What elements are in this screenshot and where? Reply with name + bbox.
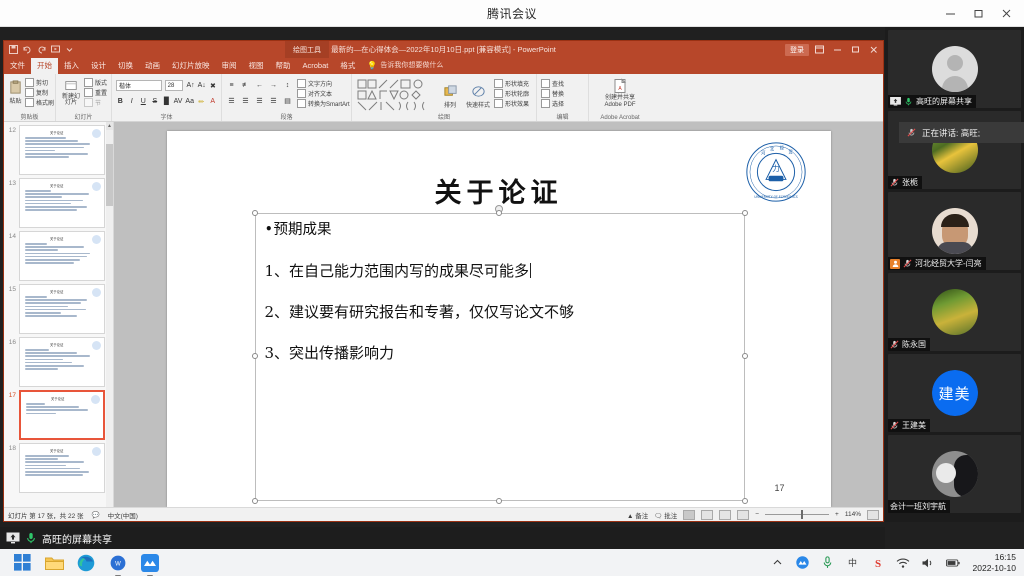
- avatar-head: [947, 55, 963, 71]
- mic-muted-icon: [890, 340, 899, 349]
- cat-photo-avatar: [932, 451, 978, 497]
- avatar-dark-region: [954, 455, 978, 497]
- section-button[interactable]: 节: [84, 98, 107, 107]
- quick-access-toolbar: [4, 45, 74, 54]
- thumbnail-lines: [26, 403, 98, 416]
- resize-handle-bottom-center[interactable]: [496, 498, 502, 504]
- clock-time: 16:15: [973, 552, 1016, 563]
- select-button[interactable]: 选择: [541, 99, 584, 108]
- sogou-input-icon[interactable]: S: [871, 556, 885, 570]
- thumbnail-number: 13: [6, 178, 16, 187]
- body-line-2: 1、在自己能力范围内写的成果尽可能多: [265, 263, 735, 279]
- view-slide-sorter-button[interactable]: [701, 510, 713, 520]
- powerpoint-title-bar: 最新的—在心得体会—2022年10月10日.ppt [兼容模式] - Power…: [4, 41, 883, 58]
- landscape-photo-avatar: [932, 289, 978, 335]
- ribbon-group-clipboard: 粘贴 剪切 复制 格式刷 剪贴板: [4, 74, 56, 121]
- thumbnail-number: 15: [6, 284, 16, 293]
- zoom-in-button[interactable]: +: [835, 511, 839, 518]
- editing-group-label: 编辑: [537, 112, 588, 121]
- thumbnail-preview: 关于论证: [19, 125, 105, 175]
- thumbnail-lines: [25, 243, 99, 265]
- participant-name: 会计一班刘宇航: [890, 501, 946, 512]
- text-direction-label: 文字方向: [308, 79, 332, 88]
- avatar-hair: [941, 214, 969, 227]
- find-button[interactable]: 查找: [541, 79, 584, 88]
- resize-handle-middle-right[interactable]: [742, 353, 748, 359]
- layout-button[interactable]: 版式: [84, 78, 107, 87]
- shape-outline-icon: [494, 89, 503, 98]
- start-slideshow-icon[interactable]: [51, 45, 60, 54]
- paste-icon: [8, 80, 23, 95]
- font-color-button[interactable]: A: [208, 96, 217, 107]
- wps-office-icon[interactable]: W: [108, 553, 128, 573]
- spellcheck-icon[interactable]: 💬: [92, 511, 100, 519]
- slide-count-label: 幻灯片 第 17 张，共 22 张: [8, 510, 84, 520]
- font-group-label: 字体: [112, 112, 221, 121]
- scroll-up-arrow-icon[interactable]: ▲: [106, 122, 113, 130]
- participant-name: 陈永国: [902, 339, 926, 350]
- thumbnail-preview: 关于论证: [19, 390, 105, 440]
- ribbon-display-options-icon[interactable]: [812, 41, 827, 58]
- comments-button[interactable]: 🗨 批注: [654, 510, 677, 520]
- strikethrough-button[interactable]: S: [151, 96, 160, 107]
- thumbnail-title: 关于论证: [50, 289, 64, 294]
- create-share-adobe-pdf-button[interactable]: A 创建并共享 Adobe PDF: [593, 76, 647, 108]
- shape-fill-button[interactable]: 形状填充: [494, 79, 529, 88]
- slide-thumbnail-12[interactable]: 12 关于论证: [4, 122, 113, 175]
- ribbon-tab-file[interactable]: 文件: [4, 58, 31, 74]
- thumbnail-preview: 关于论证: [19, 337, 105, 387]
- participant-name-bar: 张栀: [888, 176, 922, 189]
- quick-styles-button[interactable]: 快速样式: [466, 78, 490, 115]
- decrease-font-size-icon[interactable]: A↓: [198, 80, 206, 91]
- mic-muted-icon: [890, 421, 899, 430]
- replace-label: 替换: [552, 89, 564, 98]
- format-painter-label: 格式刷: [36, 98, 54, 107]
- shape-effects-icon: [494, 99, 503, 108]
- fit-slide-to-window-button[interactable]: [867, 510, 879, 520]
- numbering-button[interactable]: ≢: [240, 80, 251, 91]
- format-painter-button[interactable]: 格式刷: [25, 98, 54, 107]
- tencent-meeting-icon[interactable]: [140, 553, 160, 573]
- notes-button-label: 备注: [635, 513, 648, 520]
- participant-name-bar: 高旺的屏幕共享: [888, 95, 976, 108]
- view-reading-button[interactable]: [719, 510, 731, 520]
- ribbon-group-slides: 新建幻灯片 版式 重置 节 幻灯片: [56, 74, 112, 121]
- slide-thumbnail-17[interactable]: 17 关于论证: [4, 387, 113, 440]
- participant-tile-3[interactable]: 陈永国: [888, 273, 1021, 351]
- mic-muted-icon: [890, 178, 899, 187]
- thumbnail-lines: [25, 349, 99, 371]
- ribbon-group-acrobat: A 创建并共享 Adobe PDF Adobe Acrobat: [589, 74, 651, 121]
- thumbnail-title: 关于论证: [50, 130, 64, 135]
- contextual-tab-label: 绘图工具: [285, 41, 329, 58]
- clock-date: 2022-10-10: [973, 563, 1016, 574]
- ribbon-tab-insert[interactable]: 插入: [58, 58, 85, 74]
- body-line-1: •预期成果: [265, 223, 735, 238]
- participant-name-bar: 王建美: [888, 419, 930, 432]
- bullet-icon: •: [265, 223, 274, 238]
- microphone-icon: [25, 532, 37, 544]
- svg-text:河: 河: [761, 149, 766, 156]
- section-label: 节: [95, 98, 101, 107]
- shape-effects-button[interactable]: 形状效果: [494, 99, 529, 108]
- microsoft-edge-icon[interactable]: [76, 553, 96, 573]
- cut-button[interactable]: 剪切: [25, 78, 54, 87]
- align-center-button[interactable]: ☰: [240, 95, 251, 106]
- participant-tile-2[interactable]: 河北经贸大学-闫亮: [888, 192, 1021, 270]
- shape-effects-label: 形状效果: [505, 99, 529, 108]
- participant-tile-4[interactable]: 建美 王建美: [888, 354, 1021, 432]
- align-text-button[interactable]: 对齐文本: [297, 89, 350, 98]
- ribbon-tab-design[interactable]: 设计: [85, 58, 112, 74]
- slide-thumbnail-15[interactable]: 15 关于论证: [4, 281, 113, 334]
- reset-label: 重置: [95, 88, 107, 97]
- layout-label: 版式: [95, 78, 107, 87]
- shape-outline-label: 形状轮廓: [505, 89, 529, 98]
- ribbon-tab-help[interactable]: 帮助: [270, 58, 297, 74]
- meeting-window-controls: [936, 0, 1020, 27]
- system-tray: 中 S 16:15 2022-10-10: [771, 552, 1024, 574]
- show-hidden-icons-chevron[interactable]: [771, 556, 785, 570]
- notes-button[interactable]: ▲ 备注: [627, 510, 648, 520]
- slide-thumbnail-14[interactable]: 14 关于论证: [4, 228, 113, 281]
- svg-text:中: 中: [848, 557, 857, 569]
- arrange-button[interactable]: 排列: [438, 78, 462, 115]
- thumbnail-number: 14: [6, 231, 16, 240]
- font-size-combobox[interactable]: 28: [165, 80, 184, 91]
- ribbon-group-editing: 查找 替换 选择 编辑: [537, 74, 589, 121]
- thumbnail-preview: 关于论证: [19, 231, 105, 281]
- participant-name: 张栀: [902, 177, 918, 188]
- reset-button[interactable]: 重置: [84, 88, 107, 97]
- resize-handle-middle-left[interactable]: [252, 353, 258, 359]
- resize-handle-top-center[interactable]: [496, 210, 502, 216]
- italic-button[interactable]: I: [128, 96, 137, 107]
- participant-tile-5[interactable]: 会计一班刘宇航: [888, 435, 1021, 513]
- ribbon-tab-slideshow[interactable]: 幻灯片放映: [166, 58, 216, 74]
- ime-chinese-icon[interactable]: 中: [846, 556, 860, 570]
- meeting-window-title: 腾讯会议: [487, 5, 537, 22]
- screen-share-icon: [890, 97, 901, 106]
- tell-me-search-box[interactable]: 💡 告诉我你想要做什么: [361, 58, 449, 74]
- powerpoint-document-title: 最新的—在心得体会—2022年10月10日.ppt [兼容模式] - Power…: [4, 44, 883, 55]
- text-caret: [530, 263, 531, 278]
- body-line-4: 3、突出传播影响力: [265, 346, 735, 361]
- underline-button[interactable]: U: [139, 96, 148, 107]
- columns-button[interactable]: ▤: [282, 95, 293, 106]
- screen-share-owner-label: 高旺的屏幕共享: [42, 531, 112, 546]
- close-icon[interactable]: [992, 0, 1020, 27]
- paste-label: 粘贴: [9, 96, 21, 105]
- powerpoint-status-bar: 幻灯片 第 17 张，共 22 张 💬 中文(中国) ▲ 备注 🗨 批注 − +…: [4, 507, 883, 521]
- shapes-gallery-icon: [356, 78, 434, 112]
- slide-page-number: 17: [774, 483, 784, 493]
- increase-font-size-icon[interactable]: A↑: [186, 80, 194, 91]
- thumbnail-title: 关于论证: [50, 236, 64, 241]
- redo-icon[interactable]: [37, 45, 46, 54]
- thumbnail-scrollbar[interactable]: ▲ ▼: [106, 122, 113, 515]
- ribbon-tab-animations[interactable]: 动画: [139, 58, 166, 74]
- zoom-out-button[interactable]: −: [755, 511, 759, 518]
- taskbar-app-icons: W: [0, 553, 160, 573]
- powerpoint-close-icon[interactable]: [866, 41, 881, 58]
- thumbnail-title: 关于论证: [50, 448, 64, 453]
- svg-text:S: S: [874, 558, 880, 569]
- new-slide-label: 新建幻灯片: [60, 94, 82, 107]
- avatar-shirt: [937, 242, 973, 254]
- thumbnail-title: 关于论证: [50, 183, 64, 188]
- text-direction-icon: [297, 79, 306, 88]
- host-badge-icon: [890, 259, 900, 269]
- new-slide-icon: [64, 79, 78, 93]
- microphone-tray-icon[interactable]: [821, 556, 835, 570]
- editing-area: 12 关于论证 13 关于论证: [4, 122, 883, 522]
- zoom-level-label[interactable]: 114%: [845, 511, 861, 518]
- slide-thumbnail-16[interactable]: 16 关于论证: [4, 334, 113, 387]
- ribbon-tab-transitions[interactable]: 切换: [112, 58, 139, 74]
- participant-name: 王建美: [902, 420, 926, 431]
- reset-icon: [84, 88, 93, 97]
- powerpoint-minimize-icon[interactable]: [830, 41, 845, 58]
- body-line-4-text: 3、突出传播影响力: [265, 344, 395, 362]
- meeting-title-bar: 腾讯会议: [0, 0, 1024, 27]
- find-label: 查找: [552, 79, 564, 88]
- resize-handle-top-left[interactable]: [252, 210, 258, 216]
- slide-thumbnail-pane[interactable]: 12 关于论证 13 关于论证: [4, 122, 114, 515]
- character-spacing-button[interactable]: AV: [174, 96, 183, 107]
- text-highlight-color-button[interactable]: ✏: [197, 96, 206, 107]
- slide-title[interactable]: 关于论证: [167, 171, 831, 210]
- shape-fill-label: 形状填充: [505, 79, 529, 88]
- clear-formatting-icon[interactable]: ✖: [209, 80, 217, 91]
- arrange-label: 排列: [444, 100, 456, 109]
- resize-handle-bottom-left[interactable]: [252, 498, 258, 504]
- font-name-value: 楷体: [119, 81, 131, 90]
- paragraph-group-label: 段落: [222, 112, 351, 121]
- current-slide[interactable]: 力 河 北 经 贸 UNIVERSITY OF ECONOMICS 关于论证: [167, 131, 831, 507]
- replace-icon: [541, 89, 550, 98]
- initials-avatar: 建美: [932, 370, 978, 416]
- lightbulb-icon: 💡: [367, 58, 377, 74]
- svg-text:W: W: [115, 561, 121, 567]
- smartart-icon: [297, 99, 306, 108]
- layout-icon: [84, 78, 93, 87]
- wifi-icon[interactable]: [896, 556, 910, 570]
- view-slideshow-button[interactable]: [737, 510, 749, 520]
- font-size-value: 28: [168, 83, 175, 89]
- body-line-2-text: 1、在自己能力范围内写的成果尽可能多: [265, 262, 530, 280]
- cut-label: 剪切: [36, 78, 48, 87]
- zoom-slider[interactable]: [765, 514, 829, 515]
- thumbnail-lines: [25, 190, 99, 212]
- copy-button[interactable]: 复制: [25, 88, 54, 97]
- copy-icon: [25, 88, 34, 97]
- thumbnail-number: 16: [6, 337, 16, 346]
- section-icon: [84, 98, 93, 107]
- text-shadow-button[interactable]: █: [162, 96, 171, 107]
- decrease-indent-button[interactable]: ←: [254, 80, 265, 91]
- ribbon-group-drawing: 排列 快速样式 形状填充 形状轮廓 形状效果 绘图: [352, 74, 537, 121]
- thumbnail-preview: 关于论证: [19, 178, 105, 228]
- battery-icon[interactable]: [946, 556, 960, 570]
- ribbon-tab-acrobat[interactable]: Acrobat: [297, 58, 335, 74]
- font-name-combobox[interactable]: 楷体: [116, 80, 162, 91]
- adobe-pdf-icon: A: [612, 78, 628, 94]
- thumbnail-number: 18: [6, 443, 16, 452]
- monitor-icon: [6, 532, 20, 544]
- arrange-icon: [443, 84, 458, 99]
- select-label: 选择: [552, 99, 564, 108]
- ribbon: 粘贴 剪切 复制 格式刷 剪贴板 新建幻灯片: [4, 74, 883, 122]
- shape-fill-icon: [494, 79, 503, 88]
- create-share-adobe-pdf-label: 创建并共享 Adobe PDF: [604, 95, 635, 108]
- shapes-gallery[interactable]: [356, 78, 434, 115]
- maximize-icon[interactable]: [964, 0, 992, 27]
- speaking-toast-text: 正在讲话: 高旺;: [922, 127, 980, 139]
- body-line-3: 2、建议要有研究报告和专著，仅仅写论文不够: [265, 305, 735, 320]
- shape-outline-button[interactable]: 形状轮廓: [494, 89, 529, 98]
- view-normal-button[interactable]: [683, 510, 695, 520]
- participant-name-bar: 会计一班刘宇航: [888, 500, 950, 513]
- quick-styles-label: 快速样式: [466, 100, 490, 109]
- thumbnail-lines: [25, 455, 99, 477]
- thumbnail-preview: 关于论证: [19, 443, 105, 493]
- thumbnail-title: 关于论证: [51, 396, 65, 401]
- change-case-button[interactable]: Aa: [185, 96, 194, 107]
- thumbnail-title: 关于论证: [50, 342, 64, 347]
- thumbnail-number: 17: [6, 390, 16, 399]
- windows-taskbar: W 中: [0, 549, 1024, 576]
- body-line-1-text: 预期成果: [274, 222, 332, 238]
- powerpoint-title-right: 登录: [785, 41, 881, 58]
- align-text-label: 对齐文本: [308, 89, 332, 98]
- paste-button[interactable]: 粘贴: [8, 76, 23, 107]
- language-label[interactable]: 中文(中国): [108, 510, 138, 520]
- align-text-icon: [297, 89, 306, 98]
- format-painter-icon: [25, 98, 34, 107]
- save-icon[interactable]: [9, 45, 18, 54]
- ribbon-tab-format[interactable]: 格式: [334, 58, 361, 74]
- screen-share-indicator-bar: 高旺的屏幕共享: [0, 527, 885, 549]
- ribbon-group-font: 楷体 28 A↑ A↓ ✖ B I U S █ AV Aa ✏ A 字: [112, 74, 222, 121]
- start-button-icon[interactable]: [12, 553, 32, 573]
- text-direction-button[interactable]: 文字方向: [297, 79, 350, 88]
- ribbon-tab-strip: 文件 开始 插入 设计 切换 动画 幻灯片放映 审阅 视图 帮助 Acrobat…: [4, 58, 883, 74]
- avatar-body: [942, 76, 968, 92]
- slides-group-label: 幻灯片: [56, 112, 111, 121]
- search-icon: [541, 79, 550, 88]
- line-spacing-button[interactable]: ↕: [282, 80, 293, 91]
- acrobat-group-label: Adobe Acrobat: [589, 115, 651, 121]
- slide-thumbnail-18[interactable]: 18 关于论证: [4, 440, 113, 493]
- man-portrait-avatar: [932, 208, 978, 254]
- participant-name: 高旺的屏幕共享: [916, 96, 972, 107]
- ribbon-tab-view[interactable]: 视图: [243, 58, 270, 74]
- select-icon: [541, 99, 550, 108]
- resize-handle-top-right[interactable]: [742, 210, 748, 216]
- volume-icon[interactable]: [921, 556, 935, 570]
- drawing-group-label: 绘图: [352, 112, 536, 121]
- generic-person-avatar: [932, 46, 978, 92]
- participant-name-bar: 陈永国: [888, 338, 930, 351]
- comments-button-label: 批注: [664, 513, 677, 520]
- convert-to-smartart-button[interactable]: 转换为SmartArt: [297, 99, 350, 108]
- smartart-label: 转换为SmartArt: [308, 99, 350, 108]
- status-bar-left: 幻灯片 第 17 张，共 22 张 💬 中文(中国): [4, 510, 138, 520]
- clipboard-group-label: 剪贴板: [4, 112, 55, 121]
- slide-thumbnail-13[interactable]: 13 关于论证: [4, 175, 113, 228]
- body-line-3-text: 2、建议要有研究报告和专著，仅仅写论文不够: [265, 303, 575, 321]
- copy-label: 复制: [36, 88, 48, 97]
- powerpoint-window: 最新的—在心得体会—2022年10月10日.ppt [兼容模式] - Power…: [3, 40, 884, 522]
- scissors-icon: [25, 78, 34, 87]
- bullets-button[interactable]: ≡: [226, 80, 237, 91]
- mic-muted-icon: [903, 259, 912, 268]
- ribbon-tab-home[interactable]: 开始: [31, 58, 58, 74]
- ribbon-group-paragraph: ≡ ≢ ← → ↕ ☰ ☰ ☰ ☰ ▤: [222, 74, 352, 121]
- new-slide-button[interactable]: 新建幻灯片: [60, 76, 82, 107]
- microphone-icon: [904, 97, 913, 106]
- slide-body-text[interactable]: •预期成果 1、在自己能力范围内写的成果尽可能多 2、建议要有研究报告和专著，仅…: [265, 223, 735, 388]
- justify-button[interactable]: ☰: [268, 95, 279, 106]
- align-left-button[interactable]: ☰: [226, 95, 237, 106]
- participant-name: 河北经贸大学-闫亮: [915, 258, 982, 269]
- tencent-meeting-tray-icon[interactable]: [796, 556, 810, 570]
- thumbnail-lines: [25, 137, 99, 159]
- minimize-icon[interactable]: [936, 0, 964, 27]
- participant-rail: 高旺的屏幕共享 张栀: [885, 27, 1024, 522]
- participant-name-bar: 河北经贸大学-闫亮: [888, 257, 986, 270]
- avatar-light-region: [936, 463, 956, 483]
- undo-icon[interactable]: [23, 45, 32, 54]
- thumbnail-number: 12: [6, 125, 16, 134]
- slide-canvas-area: 力 河 北 经 贸 UNIVERSITY OF ECONOMICS 关于论证: [114, 122, 883, 515]
- participant-tile-0[interactable]: 高旺的屏幕共享: [888, 30, 1021, 108]
- quick-styles-icon: [471, 84, 486, 99]
- increase-indent-button[interactable]: →: [268, 80, 279, 91]
- thumbnail-preview: 关于论证: [19, 284, 105, 334]
- customize-quick-access-icon[interactable]: [65, 45, 74, 54]
- replace-button[interactable]: 替换: [541, 89, 584, 98]
- svg-text:经: 经: [779, 144, 784, 151]
- signin-pill[interactable]: 登录: [785, 44, 809, 56]
- tell-me-placeholder: 告诉我你想要做什么: [380, 58, 443, 74]
- screen: 腾讯会议: [0, 0, 1024, 576]
- mic-muted-icon: [907, 128, 916, 137]
- zoom-slider-knob[interactable]: [801, 510, 803, 519]
- taskbar-clock[interactable]: 16:15 2022-10-10: [971, 552, 1016, 574]
- avatar-initials: 建美: [932, 370, 978, 416]
- status-bar-right: ▲ 备注 🗨 批注 − + 114%: [627, 510, 883, 520]
- scrollbar-thumb[interactable]: [106, 144, 113, 206]
- powerpoint-restore-icon[interactable]: [848, 41, 863, 58]
- speaking-toast: 正在讲话: 高旺;: [899, 122, 1024, 143]
- resize-handle-bottom-right[interactable]: [742, 498, 748, 504]
- file-explorer-icon[interactable]: [44, 553, 64, 573]
- bold-button[interactable]: B: [116, 96, 125, 107]
- ribbon-tab-review[interactable]: 审阅: [216, 58, 243, 74]
- thumbnail-lines: [25, 296, 99, 318]
- align-right-button[interactable]: ☰: [254, 95, 265, 106]
